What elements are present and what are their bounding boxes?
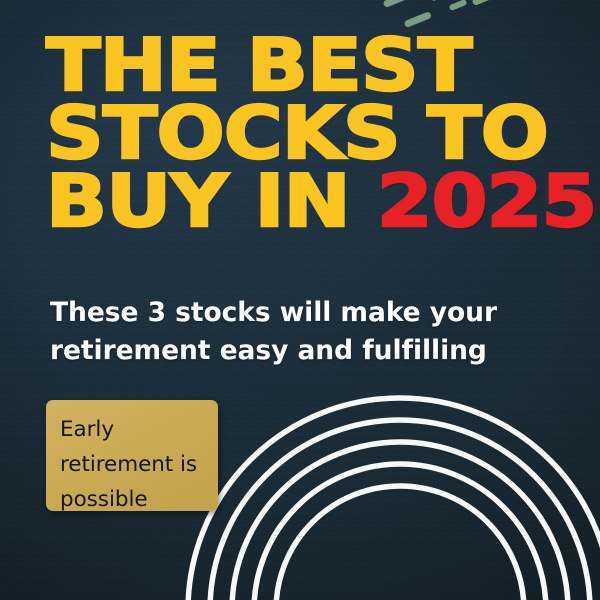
- callout-line-2: retirement is: [60, 447, 206, 482]
- callout-line-1: Early: [60, 412, 206, 447]
- callout-box: Early retirement is possible: [46, 400, 218, 511]
- subtitle-line-2: retirement easy and fulfilling: [50, 332, 530, 370]
- headline-line-2: STOCKS TO: [46, 106, 600, 163]
- headline-block: THE BEST STOCKS TO BUY IN 2025: [46, 38, 566, 230]
- headline-line-1: THE BEST: [46, 38, 600, 95]
- headline-year: 2025: [377, 161, 597, 244]
- callout-line-3: possible: [60, 482, 206, 511]
- headline-line-3-prefix: BUY IN: [46, 161, 377, 244]
- subtitle-block: These 3 stocks will make your retirement…: [50, 294, 530, 369]
- subtitle-line-1: These 3 stocks will make your: [50, 294, 530, 332]
- headline-line-3: BUY IN 2025: [46, 174, 600, 231]
- poster-canvas: THE BEST STOCKS TO BUY IN 2025 These 3 s…: [0, 0, 600, 600]
